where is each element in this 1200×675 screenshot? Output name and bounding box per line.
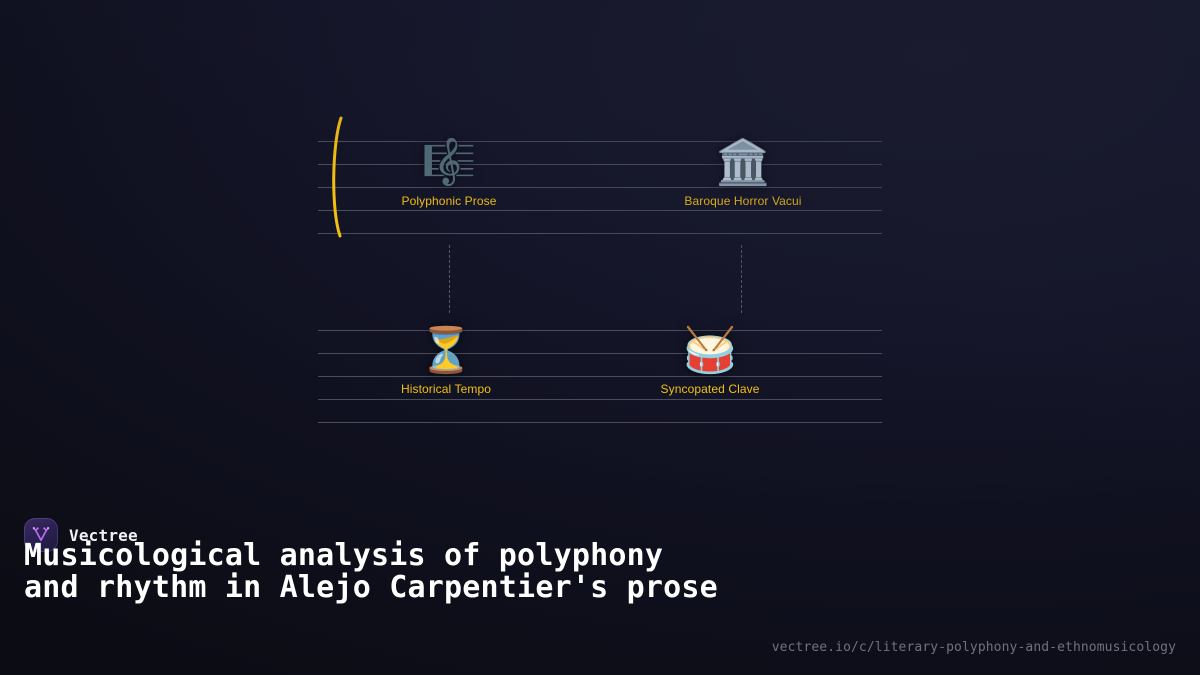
connector-right [741,245,742,313]
node-label: Baroque Horror Vacui [658,194,828,209]
node-label: Historical Tempo [361,382,531,397]
node-historical-tempo[interactable]: ⏳ Historical Tempo [361,324,531,397]
node-label: Syncopated Clave [625,382,795,397]
staff-line [318,399,882,400]
music-staff-diagram: 🎼 Polyphonic Prose 🏛️ Baroque Horror Vac… [0,0,1200,470]
poster-canvas: 🎼 Polyphonic Prose 🏛️ Baroque Horror Vac… [0,0,1200,675]
drum-icon: 🥁 [625,324,795,378]
node-syncopated-clave[interactable]: 🥁 Syncopated Clave [625,324,795,397]
node-label: Polyphonic Prose [364,194,534,209]
source-url: vectree.io/c/literary-polyphony-and-ethn… [772,640,1176,655]
staff-line [318,422,882,423]
classical-building-icon: 🏛️ [658,136,828,190]
connector-left [449,245,450,313]
page-title: Musicological analysis of polyphony and … [24,540,724,604]
staff-line [318,210,882,211]
node-baroque-horror-vacui[interactable]: 🏛️ Baroque Horror Vacui [658,136,828,209]
node-polyphonic-prose[interactable]: 🎼 Polyphonic Prose [364,136,534,209]
hourglass-icon: ⏳ [361,324,531,378]
staff-line [318,233,882,234]
footer: Vectree Musicological analysis of polyph… [0,490,1200,675]
musical-score-icon: 🎼 [364,136,534,190]
staff-brace-icon [328,116,348,238]
